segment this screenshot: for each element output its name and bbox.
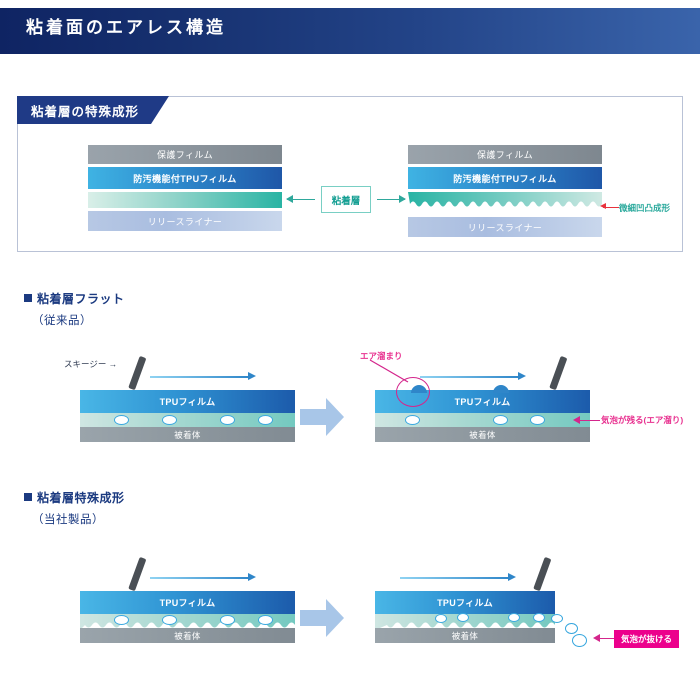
conventional-before-cross-section: TPUフィルム 被着体 (80, 390, 295, 442)
escaping-air-bubble (551, 614, 563, 623)
product-subheading: （当社製品） (32, 511, 104, 527)
product-heading: 粘着層特殊成形 (24, 489, 125, 506)
squeegee-blade (128, 557, 146, 591)
motion-arrow-line (150, 577, 250, 579)
tpu-film-label: TPUフィルム (437, 596, 493, 609)
micro-texture-label: 微細凹凸成形 (619, 202, 670, 214)
layer-release-liner: リリースライナー (88, 211, 282, 231)
callout-arrow-left-head (286, 195, 293, 203)
squeegee-label: スキージー → (64, 358, 117, 370)
substrate-layer: 被着体 (375, 628, 555, 643)
layer-release-liner: リリースライナー (408, 217, 602, 237)
escaping-air-bubble (565, 623, 578, 634)
conventional-heading: 粘着層フラット (24, 290, 125, 307)
product-after-cross-section: TPUフィルム 被着体 (375, 591, 555, 643)
motion-arrow-head (518, 372, 526, 380)
layer-label: 保護フィルム (157, 148, 213, 161)
squeegee-blade (128, 356, 146, 390)
tpu-film-layer: TPUフィルム (80, 591, 295, 614)
callout-label: 粘着層 (332, 193, 361, 207)
flat-adhesive-stack: 保護フィルム 防汚機能付TPUフィルム リリースライナー (88, 145, 282, 231)
page-title: 粘着面のエアレス構造 (26, 13, 226, 38)
motion-arrow-head (508, 573, 516, 581)
layer-label: リリースライナー (468, 221, 543, 234)
substrate-layer: 被着体 (80, 628, 295, 643)
air-bubble (220, 615, 235, 625)
section-tab-label: 粘着層の特殊成形 (31, 101, 139, 120)
tpu-film-label: TPUフィルム (160, 596, 216, 609)
substrate-label: 被着体 (452, 630, 478, 642)
layer-adhesive-flat (88, 192, 282, 208)
tpu-film-label: TPUフィルム (160, 395, 216, 408)
air-bubble (114, 615, 129, 625)
escaping-air-bubble (572, 634, 587, 647)
layer-antifouling-tpu-film: 防汚機能付TPUフィルム (88, 167, 282, 189)
layer-label: 防汚機能付TPUフィルム (453, 172, 556, 185)
tpu-film-layer: TPUフィルム (80, 390, 295, 413)
squeegee-blade (533, 557, 551, 591)
layer-protective-film: 保護フィルム (88, 145, 282, 164)
air-bubble (533, 613, 545, 622)
air-bubble (405, 415, 420, 425)
layer-adhesive-embossed (408, 192, 602, 214)
substrate-label: 被着体 (469, 429, 495, 441)
residual-bubble-label: 気泡が残る(エア溜り) (601, 414, 683, 426)
substrate-layer: 被着体 (80, 427, 295, 442)
embossed-adhesive-stack: 保護フィルム 防汚機能付TPUフィルム リリースライナー (408, 145, 602, 237)
substrate-label: 被着体 (174, 429, 200, 441)
air-bubble (162, 615, 177, 625)
squeegee-blade (549, 356, 567, 390)
callout-arrow-right-head (399, 195, 406, 203)
bubble-escape-badge: 気泡が抜ける (614, 630, 679, 648)
micro-texture-arrow-head (600, 203, 606, 209)
air-bubble (220, 415, 235, 425)
adhesive-layer-callout: 粘着層 (321, 186, 371, 213)
bullet-square-icon (24, 294, 32, 302)
motion-arrow-line (150, 376, 250, 378)
air-pocket-label: エア溜まり (360, 350, 403, 362)
layer-label: 保護フィルム (477, 148, 533, 161)
air-bubble (258, 415, 273, 425)
substrate-label: 被着体 (174, 630, 200, 642)
air-bubble (258, 615, 273, 625)
air-bubble (114, 415, 129, 425)
diagram-page: 粘着面のエアレス構造 粘着層の特殊成形 保護フィルム 防汚機能付TPUフィルム … (0, 0, 700, 700)
air-bubble (508, 613, 520, 622)
residual-bubble-arrow-line (578, 420, 600, 421)
motion-arrow-line (420, 376, 520, 378)
layer-label: リリースライナー (148, 215, 223, 228)
substrate-layer: 被着体 (375, 427, 590, 442)
process-block-arrow (300, 599, 344, 637)
layer-label: 防汚機能付TPUフィルム (133, 172, 236, 185)
product-before-cross-section: TPUフィルム 被着体 (80, 591, 295, 643)
micro-texture-arrow-line (603, 207, 619, 208)
tpu-film-label: TPUフィルム (455, 395, 511, 408)
section-tab: 粘着層の特殊成形 (17, 96, 169, 124)
air-bubble (530, 415, 545, 425)
motion-arrow-head (248, 573, 256, 581)
air-bubble (162, 415, 177, 425)
air-bubble (435, 614, 447, 623)
layer-antifouling-tpu-film: 防汚機能付TPUフィルム (408, 167, 602, 189)
process-block-arrow (300, 398, 344, 436)
wavy-adhesive-shape (408, 192, 602, 214)
tpu-film-layer: TPUフィルム (375, 591, 555, 614)
bubble-escape-arrow-line (598, 638, 614, 639)
bullet-square-icon (24, 493, 32, 501)
air-bubble (457, 613, 469, 622)
motion-arrow-head (248, 372, 256, 380)
layer-protective-film: 保護フィルム (408, 145, 602, 164)
motion-arrow-line (400, 577, 510, 579)
trapped-air-bulge (493, 385, 509, 393)
air-bubble (493, 415, 508, 425)
conventional-subheading: （従来品） (32, 312, 92, 328)
